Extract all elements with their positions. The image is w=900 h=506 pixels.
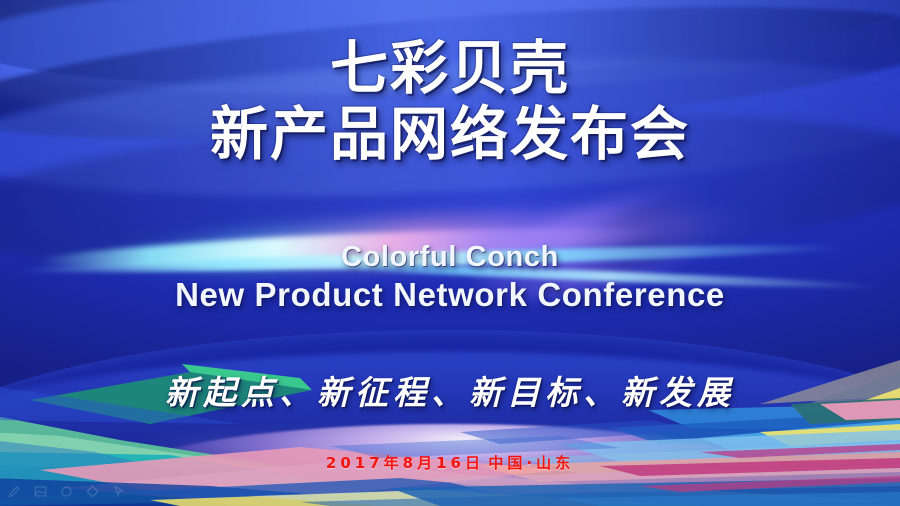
title-line-2: 新产品网络发布会 bbox=[0, 104, 900, 164]
title-line-1: 七彩贝壳 bbox=[0, 38, 900, 98]
image-icon bbox=[34, 485, 47, 498]
english-subtitle-block: Colorful Conch New Product Network Confe… bbox=[0, 240, 900, 315]
slogan-block: 新起点、新征程、新目标、新发展 bbox=[0, 366, 900, 414]
slogan-text: 新起点、新征程、新目标、新发展 bbox=[0, 366, 900, 414]
circle-icon bbox=[60, 485, 73, 498]
title-block: 七彩贝壳 新产品网络发布会 bbox=[0, 38, 900, 165]
event-date: 2017年8月16日 bbox=[326, 454, 484, 472]
pen-icon bbox=[8, 485, 21, 498]
english-line-1: Colorful Conch bbox=[0, 240, 900, 274]
event-location: 中国·山东 bbox=[488, 454, 574, 472]
cursor-arrow-icon bbox=[112, 485, 125, 498]
poster-canvas: 七彩贝壳 新产品网络发布会 Colorful Conch New Product… bbox=[0, 0, 900, 506]
diamond-icon bbox=[86, 485, 99, 498]
date-block: 2017年8月16日 中国·山东 bbox=[0, 452, 900, 473]
watermark-icon-strip bbox=[8, 485, 125, 498]
english-line-2: New Product Network Conference bbox=[0, 276, 900, 315]
